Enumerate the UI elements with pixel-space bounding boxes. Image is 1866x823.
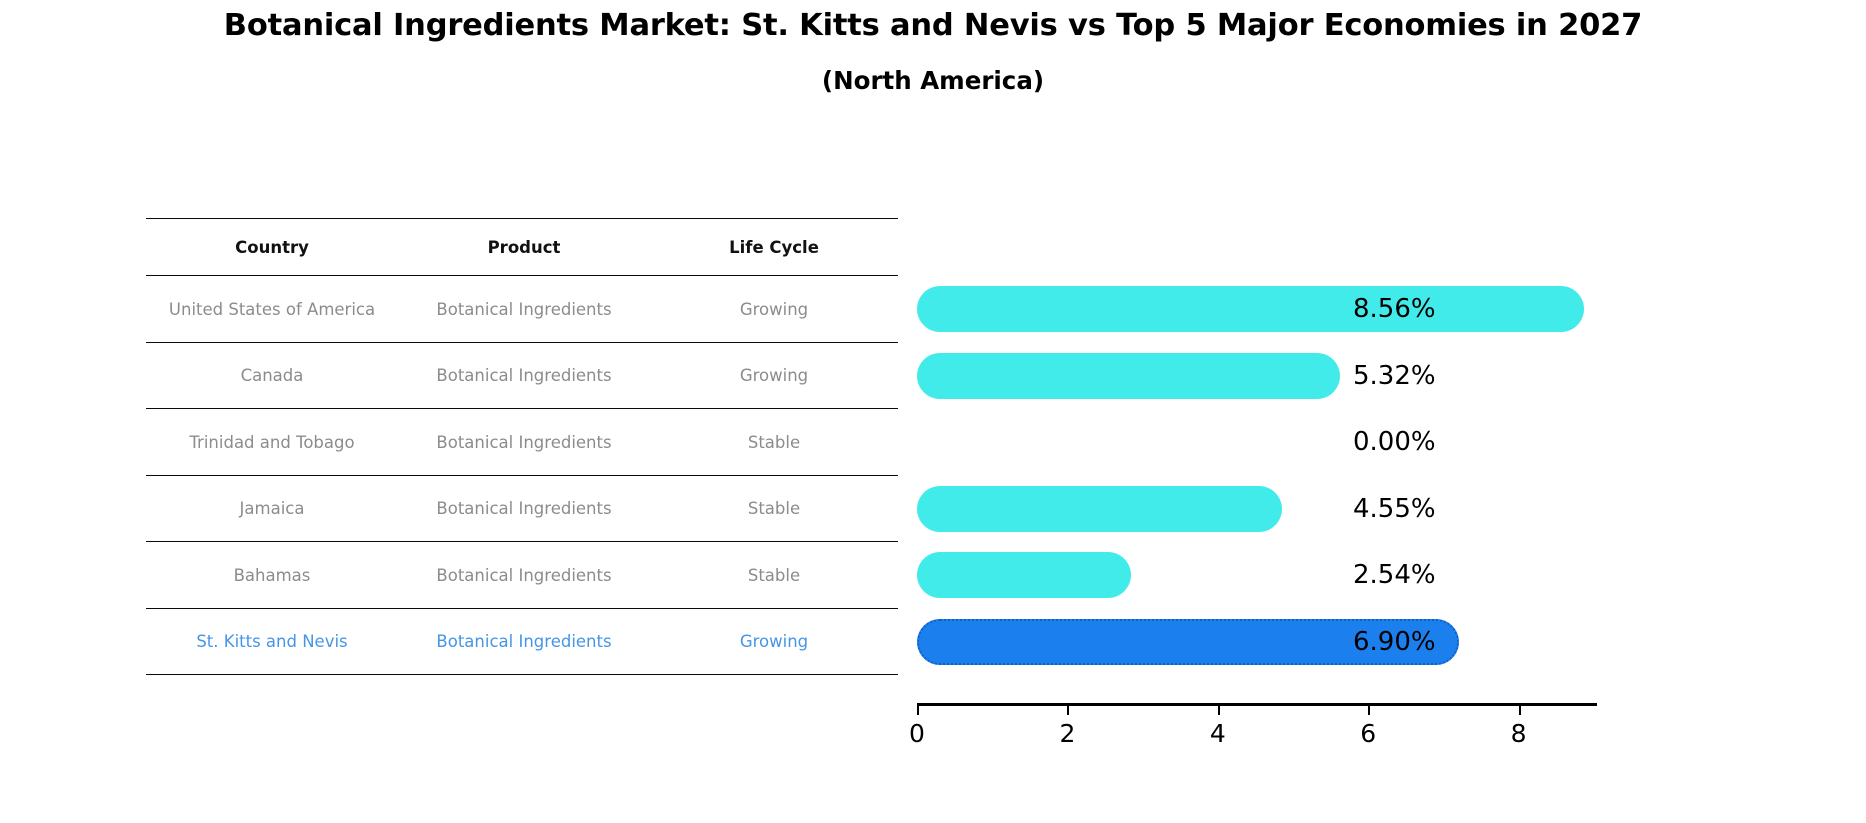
bar-chart-area: 8.56%5.32%0.00%4.55%2.54%6.90% — [917, 218, 1717, 718]
country-table: CountryProductLife CycleUnited States of… — [146, 218, 898, 675]
x-tick — [1368, 706, 1370, 715]
table-row[interactable]: St. Kitts and NevisBotanical Ingredients… — [146, 609, 898, 676]
cell-product: Botanical Ingredients — [398, 300, 650, 319]
bar-row: 5.32% — [917, 343, 1717, 410]
table-row-cells: CanadaBotanical IngredientsGrowing — [146, 343, 898, 410]
cell-country: St. Kitts and Nevis — [146, 632, 398, 651]
cell-country: Bahamas — [146, 566, 398, 585]
cell-country: Jamaica — [146, 499, 398, 518]
x-tick — [1519, 706, 1521, 715]
x-tick-label: 4 — [1210, 719, 1226, 748]
table-row[interactable]: Trinidad and TobagoBotanical Ingredients… — [146, 409, 898, 476]
bar-value-label: 8.56% — [1353, 294, 1436, 324]
bar-value-label: 0.00% — [1353, 427, 1436, 457]
page-title: Botanical Ingredients Market: St. Kitts … — [0, 6, 1866, 45]
table-row-cells: Trinidad and TobagoBotanical Ingredients… — [146, 409, 898, 476]
table-row[interactable]: CanadaBotanical IngredientsGrowing — [146, 343, 898, 410]
column-header-country: Country — [146, 238, 398, 257]
cell-life-cycle: Stable — [650, 566, 898, 585]
cell-country: United States of America — [146, 300, 398, 319]
bar-value-label: 2.54% — [1353, 560, 1436, 590]
bar[interactable] — [917, 286, 1584, 332]
bar[interactable] — [917, 552, 1131, 598]
cell-country: Canada — [146, 366, 398, 385]
bar-value-label: 4.55% — [1353, 494, 1436, 524]
table-row[interactable]: United States of AmericaBotanical Ingred… — [146, 276, 898, 343]
bar-row: 6.90% — [917, 609, 1717, 676]
bar[interactable] — [917, 353, 1340, 399]
x-tick-label: 8 — [1511, 719, 1527, 748]
bar-row: 8.56% — [917, 276, 1717, 343]
x-tick-label: 2 — [1059, 719, 1075, 748]
table-row-cells: United States of AmericaBotanical Ingred… — [146, 276, 898, 343]
bar-value-label: 6.90% — [1353, 627, 1436, 657]
x-tick — [917, 706, 919, 715]
table-row-cells: St. Kitts and NevisBotanical Ingredients… — [146, 609, 898, 676]
bar-value-label: 5.32% — [1353, 361, 1436, 391]
table-row[interactable]: JamaicaBotanical IngredientsStable — [146, 476, 898, 543]
bar-row: 4.55% — [917, 476, 1717, 543]
table-row-cells: JamaicaBotanical IngredientsStable — [146, 476, 898, 543]
column-header-life-cycle: Life Cycle — [650, 238, 898, 257]
bar-row: 0.00% — [917, 409, 1717, 476]
x-tick-label: 0 — [909, 719, 925, 748]
chart-header-spacer — [917, 218, 1717, 276]
chart-figure: Botanical Ingredients Market: St. Kitts … — [0, 0, 1866, 823]
x-tick — [1218, 706, 1220, 715]
table-header-cells: CountryProductLife Cycle — [146, 218, 898, 276]
table-row[interactable]: BahamasBotanical IngredientsStable — [146, 542, 898, 609]
table-header-row: CountryProductLife Cycle — [146, 218, 898, 276]
column-header-product: Product — [398, 238, 650, 257]
cell-product: Botanical Ingredients — [398, 499, 650, 518]
cell-product: Botanical Ingredients — [398, 566, 650, 585]
table-row-cells: BahamasBotanical IngredientsStable — [146, 542, 898, 609]
bar-row: 2.54% — [917, 542, 1717, 609]
x-tick — [1067, 706, 1069, 715]
cell-life-cycle: Growing — [650, 300, 898, 319]
cell-product: Botanical Ingredients — [398, 366, 650, 385]
cell-product: Botanical Ingredients — [398, 433, 650, 452]
cell-country: Trinidad and Tobago — [146, 433, 398, 452]
x-tick-label: 6 — [1360, 719, 1376, 748]
x-axis: 02468 — [917, 703, 1597, 706]
cell-life-cycle: Stable — [650, 433, 898, 452]
cell-life-cycle: Growing — [650, 366, 898, 385]
cell-life-cycle: Growing — [650, 632, 898, 651]
page-subtitle: (North America) — [0, 65, 1866, 97]
chart-title-block: Botanical Ingredients Market: St. Kitts … — [0, 6, 1866, 97]
bar[interactable] — [917, 486, 1282, 532]
cell-life-cycle: Stable — [650, 499, 898, 518]
cell-product: Botanical Ingredients — [398, 632, 650, 651]
